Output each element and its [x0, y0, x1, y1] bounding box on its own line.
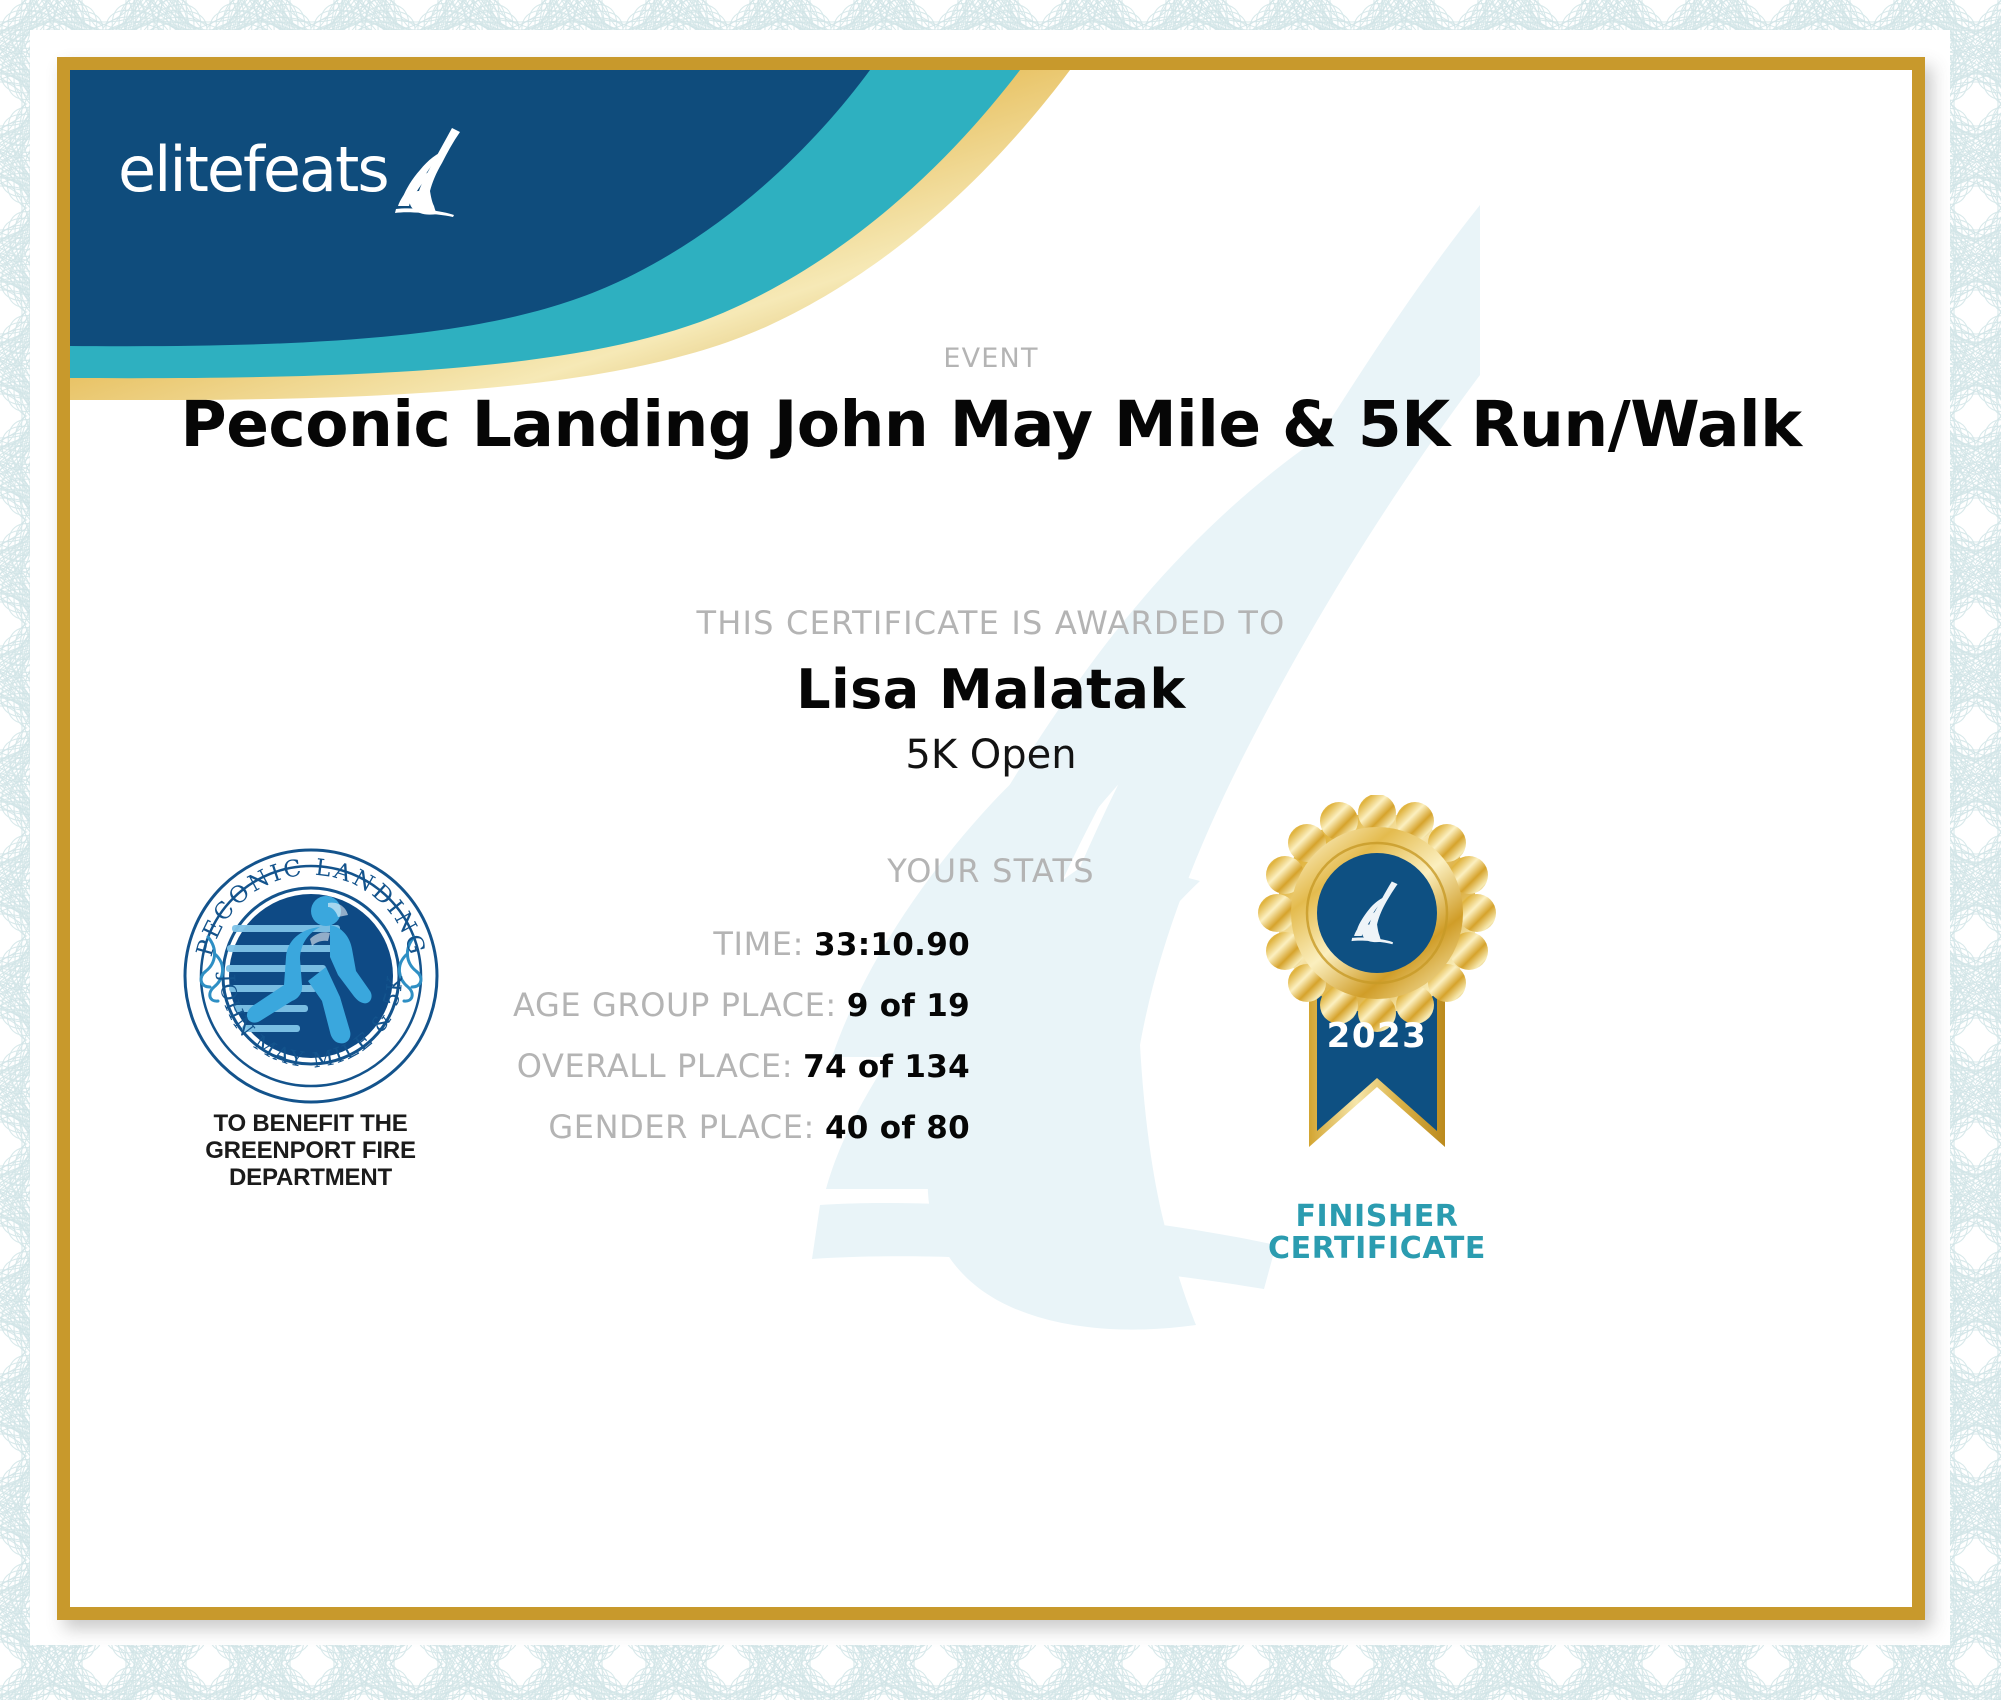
- stat-label: GENDER PLACE:: [548, 1108, 815, 1146]
- peconic-benefit-text: TO BENEFIT THE GREENPORT FIRE DEPARTMENT: [138, 1111, 483, 1192]
- benefit-line-1: TO BENEFIT THE: [138, 1111, 483, 1138]
- peconic-landing-seal-icon: PECONIC LANDING JOHN MAY MILE & 5K: [180, 845, 442, 1107]
- finisher-medal-block: 2023 FINISHER CERTIFICATE: [1212, 795, 1542, 1266]
- peconic-landing-logo-block: PECONIC LANDING JOHN MAY MILE & 5K TO BE…: [138, 845, 483, 1192]
- stat-value: 33:10.90: [814, 927, 970, 963]
- stat-label: OVERALL PLACE:: [517, 1047, 793, 1085]
- recipient-division: 5K Open: [70, 732, 1912, 778]
- certificate-frame: elitefeats EVENT Peconic Landing John Ma…: [57, 57, 1925, 1620]
- stat-row-time: TIME: 33:10.90: [400, 925, 970, 963]
- winged-foot-icon: [390, 125, 470, 217]
- awarded-to-label: THIS CERTIFICATE IS AWARDED TO: [70, 604, 1912, 642]
- finisher-caption-line-2: CERTIFICATE: [1212, 1233, 1542, 1265]
- stat-label: AGE GROUP PLACE:: [513, 986, 837, 1024]
- stat-value: 74 of 134: [803, 1049, 970, 1085]
- certificate-inner: elitefeats EVENT Peconic Landing John Ma…: [70, 70, 1912, 1607]
- elitefeats-logo: elitefeats: [118, 125, 470, 201]
- stats-list: TIME: 33:10.90 AGE GROUP PLACE: 9 of 19 …: [400, 925, 970, 1169]
- benefit-line-2: GREENPORT FIRE DEPARTMENT: [138, 1138, 483, 1192]
- stat-label: TIME:: [713, 925, 804, 963]
- event-label: EVENT: [70, 343, 1912, 374]
- recipient-name: Lisa Malatak: [70, 658, 1912, 721]
- stat-row-overall-place: OVERALL PLACE: 74 of 134: [400, 1047, 970, 1085]
- elitefeats-wordmark: elitefeats: [118, 139, 388, 201]
- svg-text:2023: 2023: [1327, 1016, 1428, 1056]
- gold-rosette-medal-icon: 2023: [1257, 795, 1497, 1195]
- finisher-certificate-caption: FINISHER CERTIFICATE: [1212, 1201, 1542, 1266]
- stat-row-age-group-place: AGE GROUP PLACE: 9 of 19: [400, 986, 970, 1024]
- stat-row-gender-place: GENDER PLACE: 40 of 80: [400, 1108, 970, 1146]
- stat-value: 9 of 19: [847, 988, 970, 1024]
- finisher-caption-line-1: FINISHER: [1212, 1201, 1542, 1233]
- stat-value: 40 of 80: [825, 1110, 970, 1146]
- event-title: Peconic Landing John May Mile & 5K Run/W…: [70, 388, 1912, 461]
